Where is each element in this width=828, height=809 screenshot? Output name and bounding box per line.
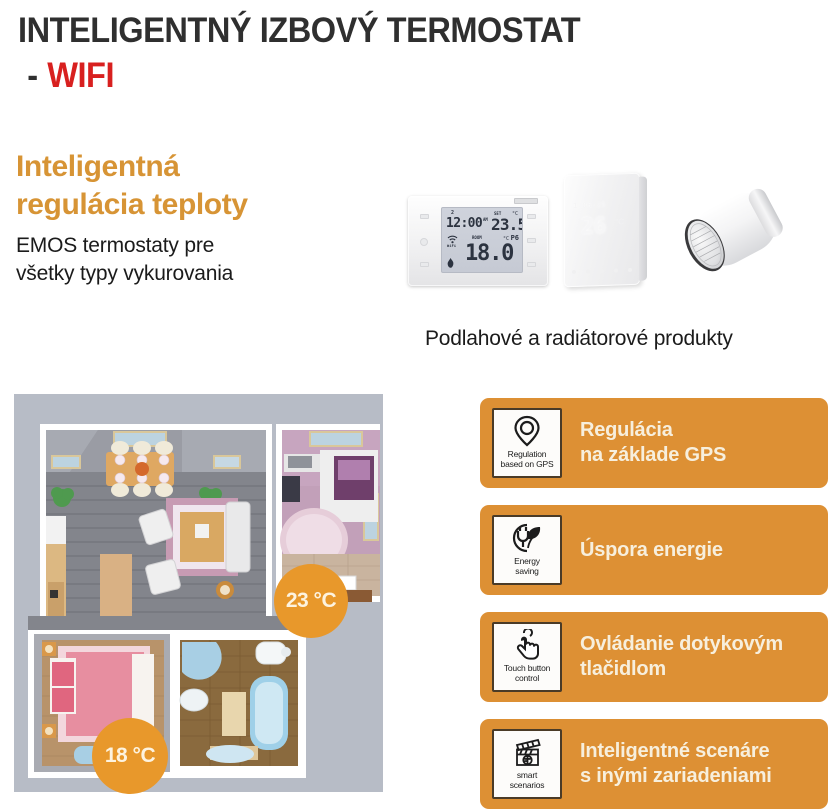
product-lcd-thermostat: 2 12:00 AM SET °C 23.5 WiFi ROOM 18.0 °C xyxy=(408,196,548,286)
feature-text-line1: Regulácia xyxy=(580,418,726,443)
touch-dot-4[interactable] xyxy=(614,268,618,272)
page-title: INTELIGENTNÝ IZBOVÝ TERMOSTAT - WIFI xyxy=(18,10,658,97)
floorplan-badge-bedroom: 18 °C xyxy=(92,718,168,794)
feature-text-line2: na základe GPS xyxy=(580,443,726,468)
feature-text-line1: Úspora energie xyxy=(580,538,723,563)
feature-text-line1: Inteligentné scenáre xyxy=(580,739,772,764)
headline-line2: - WIFI xyxy=(18,55,613,98)
feature-icon-box: smart scenarios xyxy=(492,729,562,799)
floorplan-badge-living: 23 °C xyxy=(274,564,348,638)
lcd-program: P6 xyxy=(511,234,519,242)
feature-icon-box: Touch button control xyxy=(492,622,562,692)
feature-item-touch[interactable]: Touch button control Ovládanie dotykovým… xyxy=(480,612,828,702)
headline-wifi: WIFI xyxy=(47,56,114,95)
lcd-room-value: 18.0 xyxy=(465,241,513,266)
touch-thermostat-time: 1 06:25 xyxy=(573,201,606,210)
feature-icon-caption: Energy saving xyxy=(513,557,541,576)
feature-list: Regulation based on GPS Regulácia na zák… xyxy=(480,398,828,809)
lcd-room-label: ROOM xyxy=(472,235,482,240)
poster-page: INTELIGENTNÝ IZBOVÝ TERMOSTAT - WIFI Int… xyxy=(0,0,828,809)
thermostat-button-3[interactable] xyxy=(420,262,429,267)
feature-icon-box: Energy saving xyxy=(492,515,562,585)
lcd-time: 12:00 xyxy=(446,216,482,231)
product-touch-thermostat: 1 06:25 26 °C xyxy=(564,173,640,288)
feature-item-scenarios[interactable]: smart scenarios Inteligentné scenáre s i… xyxy=(480,719,828,809)
feature-icon-caption: smart scenarios xyxy=(509,771,546,790)
gps-pin-icon xyxy=(513,414,541,448)
thermostat-button-menu[interactable] xyxy=(527,262,536,267)
feature-icon-caption: Touch button control xyxy=(503,664,551,683)
touch-dot-2[interactable] xyxy=(586,269,590,273)
feature-text-line1: Ovládanie dotykovým xyxy=(580,632,783,657)
feature-text-line2: s inými zariadeniami xyxy=(580,764,772,789)
thermostat-lcd-screen: 2 12:00 AM SET °C 23.5 WiFi ROOM 18.0 °C xyxy=(441,207,523,273)
lcd-room-unit: °C xyxy=(503,236,509,242)
touch-thermostat-unit: °C xyxy=(615,217,624,226)
touch-thermostat-buttons[interactable] xyxy=(572,268,632,274)
lcd-set-value: 23.5 xyxy=(491,215,523,234)
thermostat-button-down[interactable] xyxy=(527,238,536,243)
feature-text: Úspora energie xyxy=(580,538,723,563)
clapperboard-brain-icon xyxy=(511,735,543,769)
headline-dash: - xyxy=(27,56,38,95)
feature-text: Ovládanie dotykovým tlačidlom xyxy=(580,632,783,682)
touch-dot-1[interactable] xyxy=(572,270,576,274)
product-gallery: 2 12:00 AM SET °C 23.5 WiFi ROOM 18.0 °C xyxy=(402,162,822,302)
touch-hand-icon xyxy=(512,628,542,662)
lcd-wifi-label: WiFi xyxy=(447,244,456,248)
subheading-title-line2: regulácia teploty xyxy=(16,186,356,224)
feature-icon-box: Regulation based on GPS xyxy=(492,408,562,478)
product-caption: Podlahové a radiátorové produkty xyxy=(425,327,825,351)
thermostat-button-1[interactable] xyxy=(420,214,429,219)
touch-dot-3[interactable] xyxy=(600,269,604,273)
subheading-block: Inteligentná regulácia teploty EMOS term… xyxy=(16,148,356,288)
subheading-title-line1: Inteligentná xyxy=(16,148,356,186)
touch-thermostat-side xyxy=(639,176,647,280)
flame-icon xyxy=(447,258,454,271)
thermostat-button-up[interactable] xyxy=(527,214,536,219)
feature-icon-caption: Regulation based on GPS xyxy=(500,450,555,469)
headline-line1: INTELIGENTNÝ IZBOVÝ TERMOSTAT xyxy=(18,10,613,53)
energy-saving-plug-leaf-icon xyxy=(511,521,543,555)
feature-item-energy[interactable]: Energy saving Úspora energie xyxy=(480,505,828,595)
feature-text: Inteligentné scenáre s inými zariadeniam… xyxy=(580,739,772,789)
feature-item-gps[interactable]: Regulation based on GPS Regulácia na zák… xyxy=(480,398,828,488)
touch-dot-5[interactable] xyxy=(628,268,632,272)
feature-text: Regulácia na základe GPS xyxy=(580,418,726,468)
subheading-body-line2: všetky typy vykurovania xyxy=(16,260,356,288)
thermostat-top-tab xyxy=(514,198,538,204)
thermostat-power-button[interactable] xyxy=(420,238,428,246)
product-radiator-head xyxy=(674,174,794,290)
lcd-ampm: AM xyxy=(483,217,488,222)
subheading-body-line1: EMOS termostaty pre xyxy=(16,232,356,260)
touch-thermostat-temp: 26 xyxy=(581,214,606,240)
feature-text-line2: tlačidlom xyxy=(580,657,783,682)
